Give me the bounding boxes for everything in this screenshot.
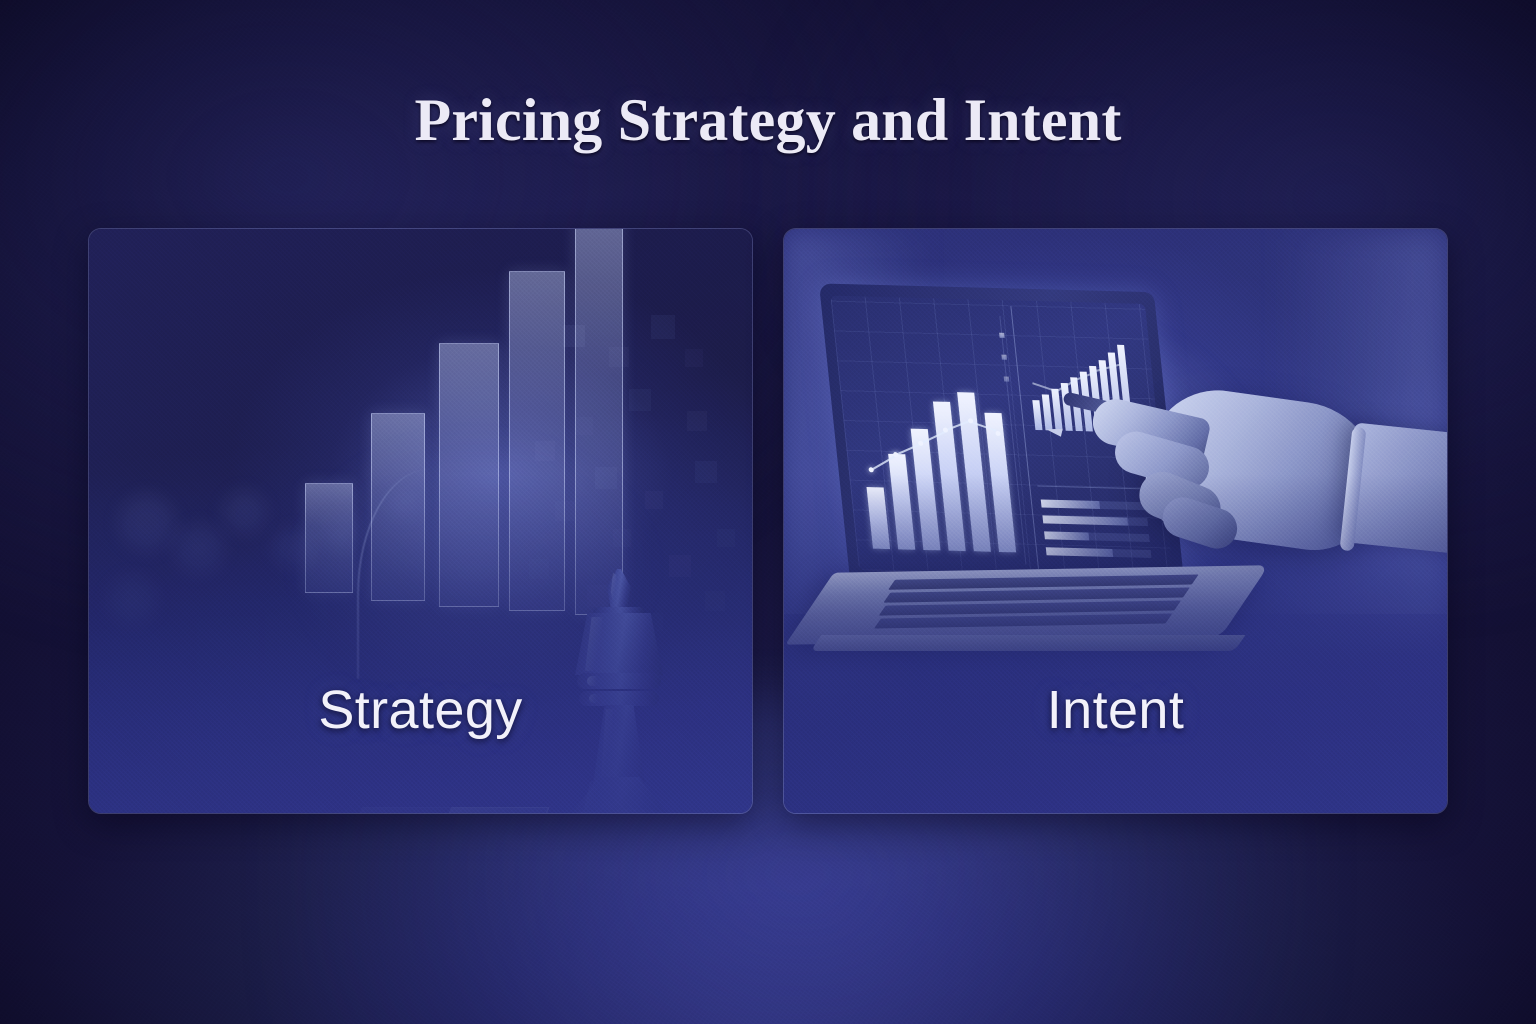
screen-line-point — [868, 467, 874, 472]
mosaic-square — [687, 411, 707, 431]
bokeh-dot — [109, 577, 155, 623]
screen-line-point — [918, 441, 924, 446]
screen-list-bar — [1041, 500, 1100, 509]
screen-line-point — [995, 431, 1001, 436]
bokeh-dot — [175, 525, 223, 573]
key-row — [874, 614, 1172, 629]
chart-bar — [575, 229, 623, 615]
screen-toolbar-dot — [1001, 355, 1007, 360]
chart-bar — [509, 271, 565, 611]
hand-with-stylus — [1100, 383, 1447, 613]
screen-toolbar-dot — [999, 333, 1005, 338]
bokeh-dot — [223, 491, 265, 533]
screen-list-bar — [1044, 531, 1089, 540]
mosaic-square — [645, 491, 663, 509]
glass-slab — [439, 807, 550, 813]
mosaic-square — [651, 315, 675, 339]
page-title: Pricing Strategy and Intent — [0, 86, 1536, 155]
panel-caption-intent: Intent — [784, 679, 1447, 741]
bokeh-dot — [119, 495, 175, 551]
mosaic-square — [629, 389, 651, 411]
mosaic-square — [705, 591, 725, 611]
panel-intent[interactable]: Intent — [783, 228, 1448, 814]
mosaic-square — [685, 349, 703, 367]
panel-strategy[interactable]: Strategy — [88, 228, 753, 814]
screen-toolbar-dot — [1004, 377, 1010, 382]
panel-row: Strategy — [88, 228, 1448, 812]
screen-line-point — [893, 452, 899, 457]
glass-slab — [352, 807, 453, 813]
laptop-front-edge — [811, 635, 1246, 651]
chart-bar — [305, 483, 353, 593]
screen-line-point — [968, 418, 974, 423]
screen-line-point — [943, 428, 949, 433]
mosaic-square — [695, 461, 717, 483]
mosaic-square — [717, 529, 735, 547]
panel-caption-strategy: Strategy — [89, 679, 752, 741]
